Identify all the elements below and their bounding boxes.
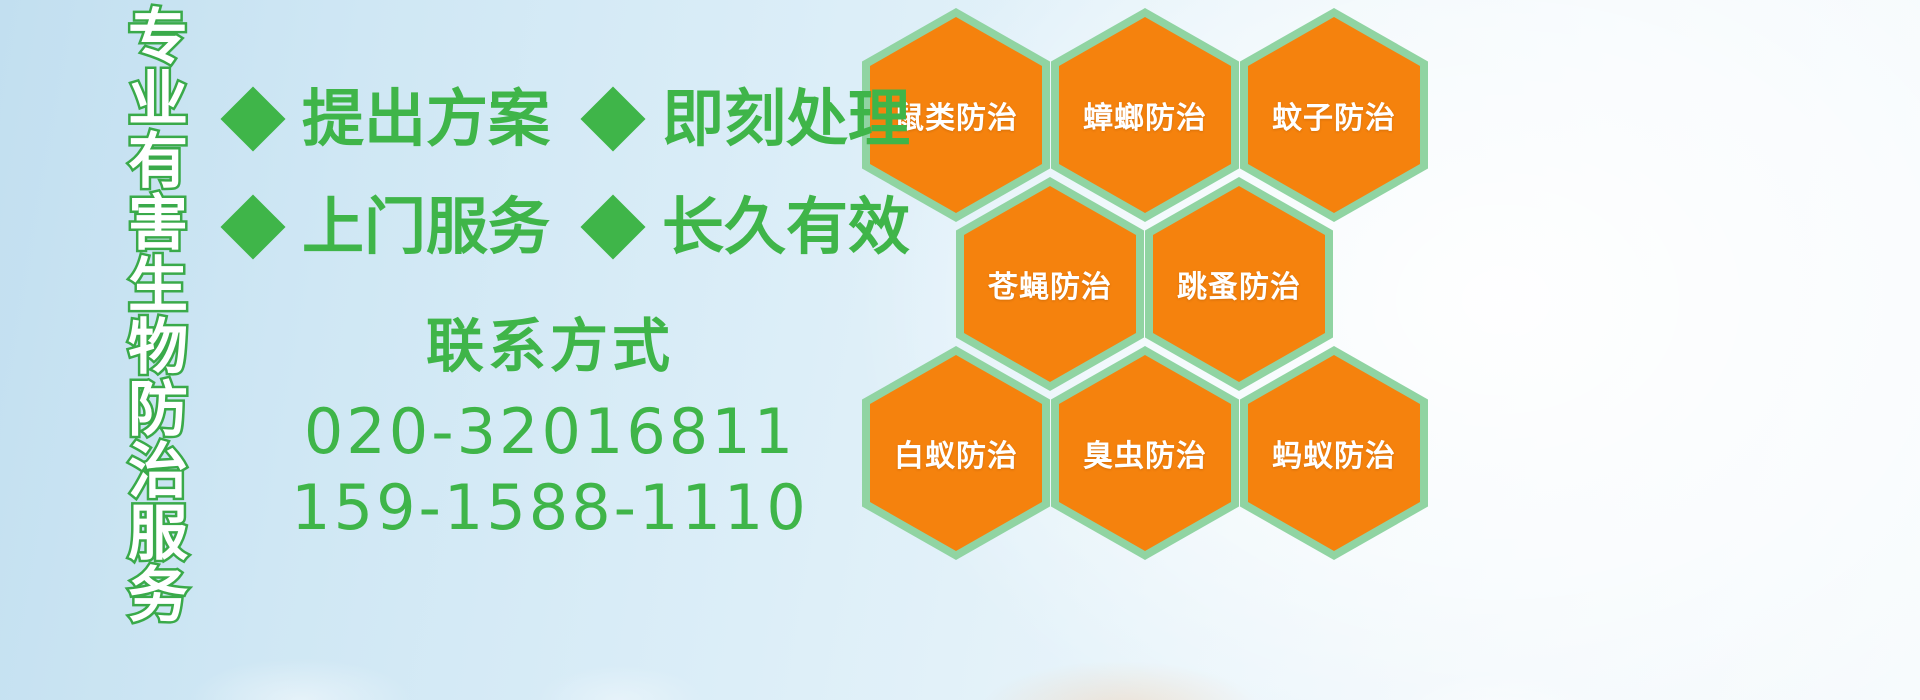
service-honeycomb: 鼠类防治 蟑螂防治 蚊子防治 苍蝇防治 跳蚤防治 白蚁防治 <box>860 0 1480 560</box>
feature-label-2: 即刻处理 <box>662 88 910 150</box>
vertical-title-char-9: 服 <box>128 504 188 564</box>
contact-title: 联系方式 <box>250 312 850 380</box>
diamond-bullet-icon <box>220 86 285 151</box>
vertical-title-char-6: 物 <box>128 318 188 378</box>
vertical-title-char-1: 专 <box>128 8 188 68</box>
feature-row-1: 提出方案 即刻处理 <box>230 88 910 150</box>
hex-cell-termite[interactable]: 白蚁防治 <box>862 346 1050 560</box>
hex-cell-ant[interactable]: 蚂蚁防治 <box>1240 346 1428 560</box>
hex-label: 蚂蚁防治 <box>1240 346 1428 560</box>
hex-cell-bedbug[interactable]: 臭虫防治 <box>1051 346 1239 560</box>
contact-phone-landline[interactable]: 020-32016811 <box>250 394 850 470</box>
feature-label-4: 长久有效 <box>662 196 910 258</box>
vertical-title-char-3: 有 <box>128 132 188 192</box>
vertical-title-char-5: 生 <box>128 256 188 316</box>
vertical-title-char-10: 务 <box>128 566 188 626</box>
feature-row-2: 上门服务 长久有效 <box>230 196 910 258</box>
contact-phone-mobile[interactable]: 159-1588-1110 <box>250 470 850 546</box>
vertical-title-char-7: 防 <box>128 380 188 440</box>
vertical-title-char-8: 治 <box>128 442 188 502</box>
vertical-title-char-2: 业 <box>128 70 188 130</box>
hex-label: 白蚁防治 <box>862 346 1050 560</box>
feature-label-3: 上门服务 <box>302 196 550 258</box>
hex-label: 臭虫防治 <box>1051 346 1239 560</box>
vertical-title-char-4: 害 <box>128 194 188 254</box>
diamond-bullet-icon <box>580 86 645 151</box>
diamond-bullet-icon <box>220 194 285 259</box>
contact-block: 联系方式 020-32016811 159-1588-1110 <box>250 312 850 546</box>
pest-control-banner: 专 业 有 害 生 物 防 治 服 务 提出方案 即刻处理 上门服务 长久有效 … <box>0 0 1920 700</box>
diamond-bullet-icon <box>580 194 645 259</box>
vertical-title: 专 业 有 害 生 物 防 治 服 务 <box>104 8 212 568</box>
feature-label-1: 提出方案 <box>302 88 550 150</box>
